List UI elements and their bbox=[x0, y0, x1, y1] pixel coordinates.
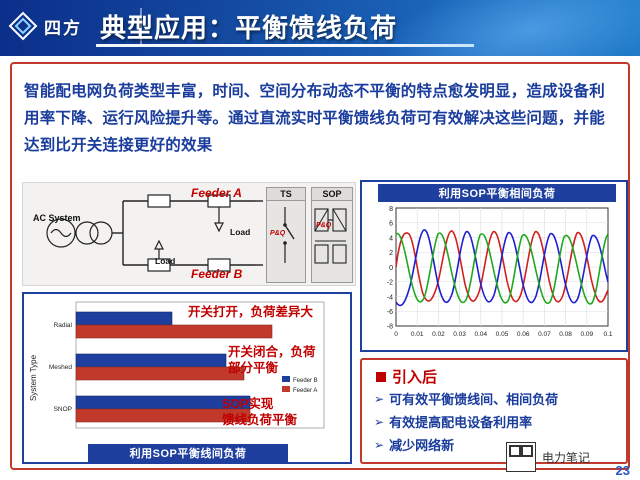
arrow-right-icon: ➢ bbox=[374, 434, 384, 457]
bar-annotation-3: SOP实现 馈线负荷平衡 bbox=[222, 396, 332, 428]
bullet-square-icon bbox=[376, 372, 386, 382]
svg-text:Feeder A: Feeder A bbox=[293, 388, 317, 394]
arrow-right-icon: ➢ bbox=[374, 411, 384, 434]
sop-block-title: SOP bbox=[312, 188, 352, 201]
svg-text:0.08: 0.08 bbox=[559, 331, 572, 338]
callout-item-1: ➢ 可有效平衡馈线间、相间负荷 bbox=[374, 388, 622, 411]
load-label-2: Load bbox=[155, 256, 175, 266]
svg-text:0.07: 0.07 bbox=[538, 331, 551, 338]
waveform-chart-caption: 利用SOP平衡相间负荷 bbox=[378, 184, 616, 202]
svg-text:4: 4 bbox=[389, 235, 393, 242]
svg-text:-2: -2 bbox=[387, 280, 393, 287]
arrow-right-icon: ➢ bbox=[374, 388, 384, 411]
svg-text:0.09: 0.09 bbox=[580, 331, 593, 338]
callout-title: 引入后 bbox=[376, 366, 437, 387]
svg-text:0: 0 bbox=[389, 265, 393, 272]
feeder-a-label: Feeder A bbox=[191, 186, 242, 200]
svg-text:-6: -6 bbox=[387, 309, 393, 316]
svg-text:System Type: System Type bbox=[29, 354, 38, 401]
ts-block-title: TS bbox=[267, 188, 305, 201]
svg-text:Radial: Radial bbox=[54, 322, 73, 329]
svg-text:Feeder B: Feeder B bbox=[293, 378, 318, 384]
svg-text:SNOP: SNOP bbox=[54, 406, 72, 413]
feeder-b-label: Feeder B bbox=[191, 267, 242, 281]
svg-text:Meshed: Meshed bbox=[49, 364, 73, 371]
waveform-plot: 8 6 4 2 0 -2 -4 -6 -8 0 0.01 0.02 0.03 0… bbox=[362, 182, 626, 355]
wechat-badge: 电力笔记 bbox=[506, 442, 626, 472]
qr-code-icon bbox=[506, 442, 536, 472]
svg-text:0.04: 0.04 bbox=[474, 331, 487, 338]
svg-text:-4: -4 bbox=[387, 294, 393, 301]
sop-block: SOP P&Q bbox=[311, 187, 353, 283]
callout-item-1-text: 可有效平衡馈线间、相间负荷 bbox=[389, 388, 558, 411]
callout-item-2-text: 有效提高配电设备利用率 bbox=[389, 411, 532, 434]
svg-text:6: 6 bbox=[389, 221, 393, 228]
lead-paragraph: 智能配电网负荷类型丰富，时间、空间分布动态不平衡的特点愈发明显，造成设备利用率下… bbox=[24, 78, 618, 159]
svg-text:0: 0 bbox=[394, 331, 398, 338]
bar-annotation-2: 开关闭合，负荷 部分平衡 bbox=[228, 344, 332, 376]
page-number: 23 bbox=[616, 463, 630, 478]
svg-text:0.1: 0.1 bbox=[603, 331, 612, 338]
diamond-logo-icon bbox=[8, 11, 38, 41]
wechat-name: 电力笔记 bbox=[542, 449, 590, 466]
slide-header: 四方 典型应用：平衡馈线负荷 bbox=[0, 0, 640, 56]
sop-pq-label: P&Q bbox=[316, 222, 331, 229]
ac-system-diagram: AC System Feeder A Feeder B Load Load TS… bbox=[22, 182, 356, 286]
ts-block: TS P&Q bbox=[266, 187, 306, 283]
svg-text:0.01: 0.01 bbox=[411, 331, 424, 338]
svg-text:-8: -8 bbox=[387, 324, 393, 331]
callout-title-text: 引入后 bbox=[392, 366, 437, 387]
ac-system-label: AC System bbox=[33, 213, 81, 223]
svg-text:2: 2 bbox=[389, 250, 393, 257]
callout-item-3-text: 减少网络新 bbox=[389, 434, 454, 457]
svg-text:0.03: 0.03 bbox=[453, 331, 466, 338]
ts-pq-label: P&Q bbox=[270, 230, 285, 237]
load-label-1: Load bbox=[230, 227, 250, 237]
bar-annotation-1: 开关打开，负荷差异大 bbox=[188, 304, 313, 320]
title-underline bbox=[96, 44, 474, 47]
callout-item-2: ➢ 有效提高配电设备利用率 bbox=[374, 411, 622, 434]
svg-text:8: 8 bbox=[389, 206, 393, 213]
bar-chart-caption: 利用SOP平衡线间负荷 bbox=[88, 444, 288, 462]
svg-text:0.02: 0.02 bbox=[432, 331, 445, 338]
page-title: 典型应用：平衡馈线负荷 bbox=[100, 8, 397, 45]
svg-text:0.06: 0.06 bbox=[517, 331, 530, 338]
svg-text:0.05: 0.05 bbox=[496, 331, 509, 338]
logo-text: 四方 bbox=[44, 14, 82, 39]
